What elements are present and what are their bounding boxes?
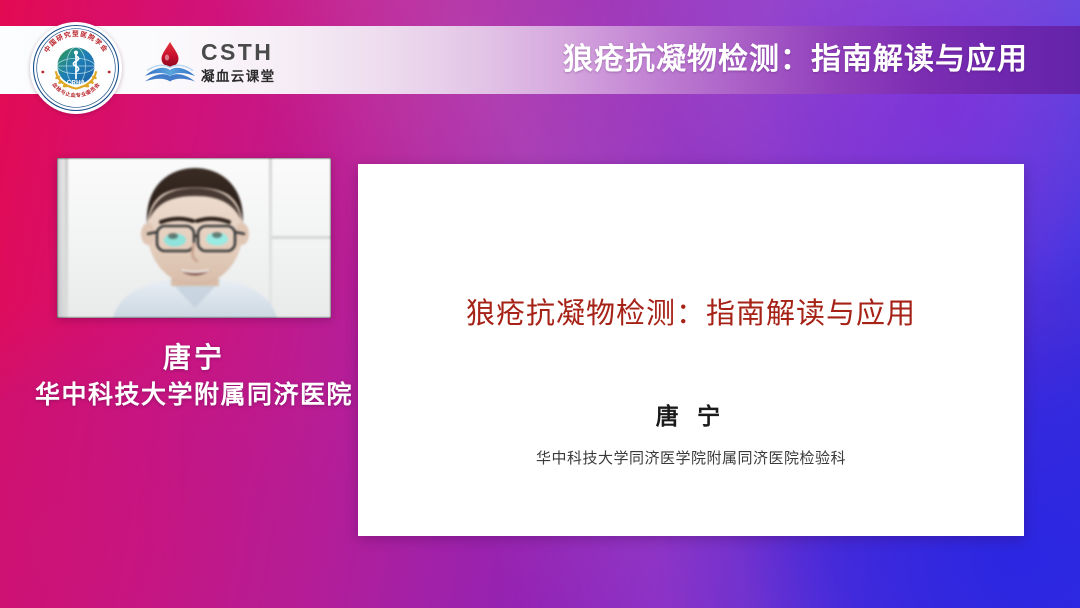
csth-logo: CSTH 凝血云课堂 [143,36,291,88]
speaker-video-panel[interactable] [57,158,331,318]
crha-emblem-icon: 中国研究型医院学会 血栓与止血专业委员会 [30,22,122,114]
open-book-icon [145,65,195,81]
presentation-slide[interactable]: 狼疮抗凝物检测：指南解读与应用 唐 宁 华中科技大学同济医学院附属同济医院检验科 [358,164,1024,536]
blood-drop-icon [162,42,179,67]
page-title: 狼疮抗凝物检测：指南解读与应用 [563,42,1028,78]
svg-text:CRHA: CRHA [67,80,86,87]
csth-wordmark: CSTH [201,39,273,65]
speaker-figure [57,158,331,318]
webinar-screen: 狼疮抗凝物检测：指南解读与应用 中国研究型医院学会 血栓与止血专业 [0,0,1080,608]
slide-speaker-affiliation: 华中科技大学同济医学院附属同济医院检验科 [358,448,1024,470]
csth-subtitle: 凝血云课堂 [201,68,276,84]
slide-speaker-name: 唐 宁 [358,400,1024,432]
speaker-organization-caption: 华中科技大学附属同济医院 [27,380,361,412]
speaker-name-caption: 唐宁 [57,342,331,376]
slide-title: 狼疮抗凝物检测：指南解读与应用 [358,294,1024,334]
crha-logo: 中国研究型医院学会 血栓与止血专业委员会 [30,22,122,114]
csth-logo-icon: CSTH 凝血云课堂 [143,36,291,88]
